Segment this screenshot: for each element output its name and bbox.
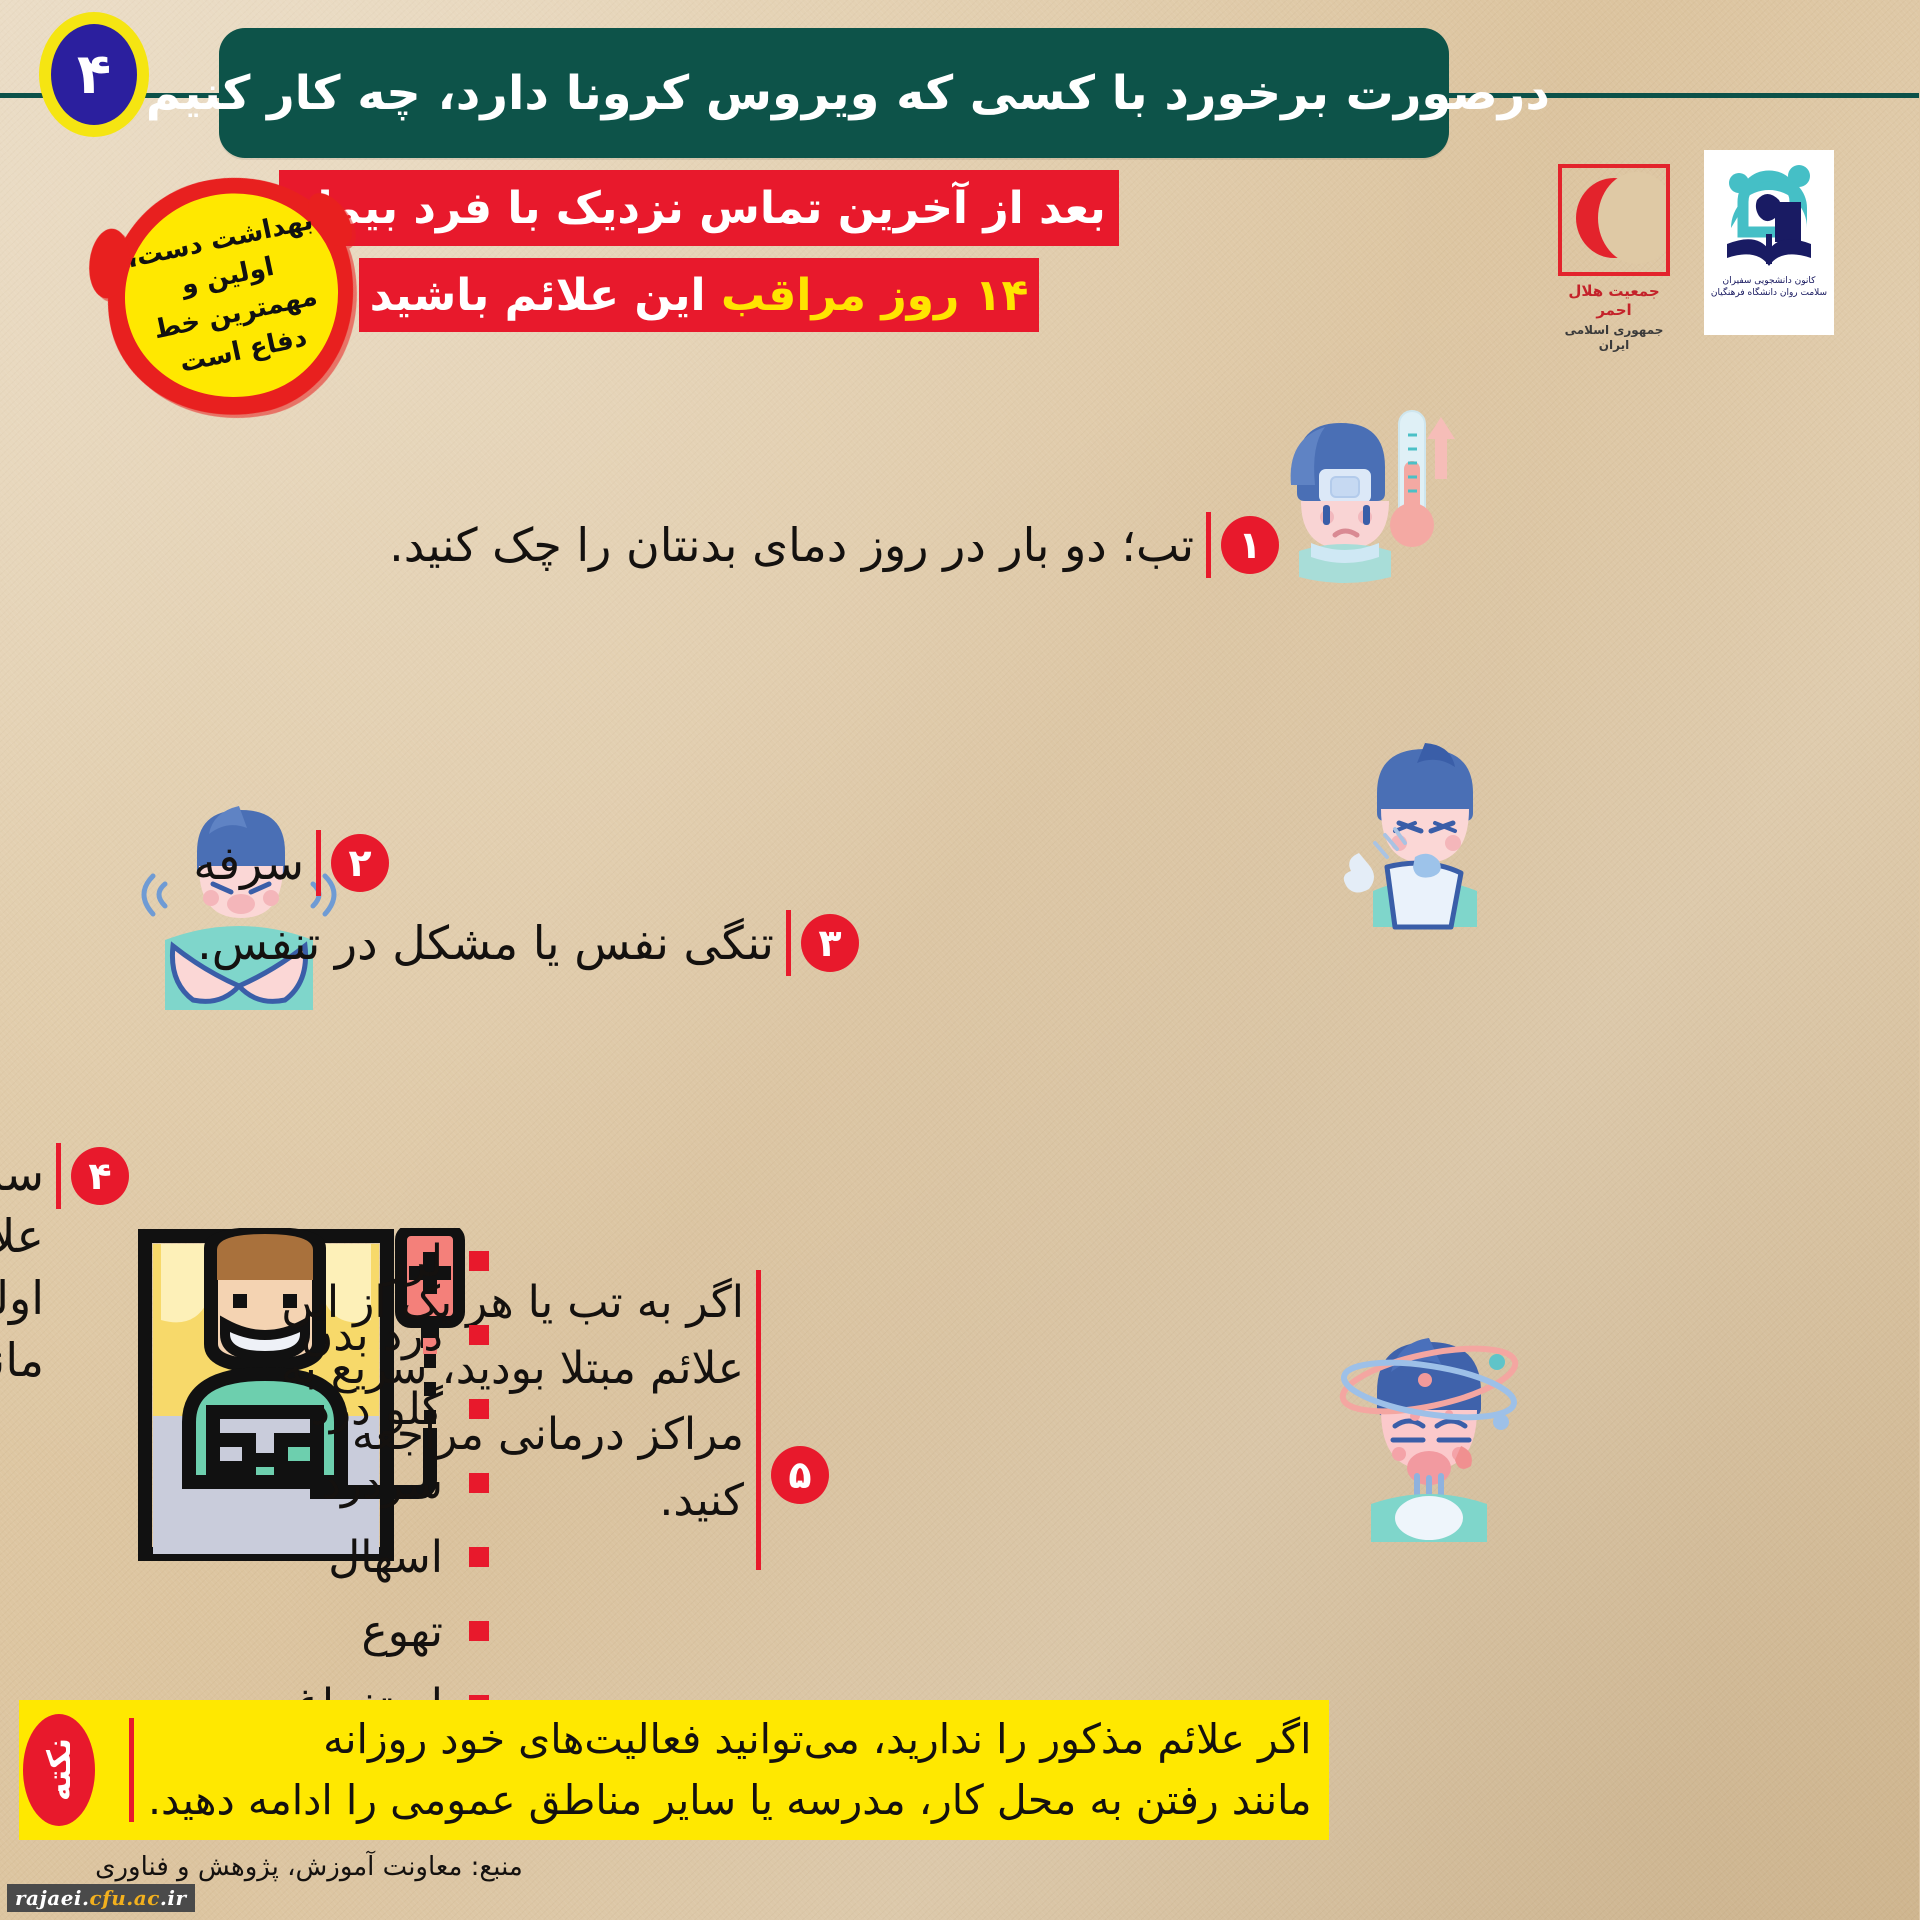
infographic-canvas: درصورت برخورد با کسی که ویروس کرونا دارد… xyxy=(0,0,1920,1920)
watch-days-rest: این علائم باشید xyxy=(371,270,722,321)
note-line-1: اگر علائم مذکور را ندارید، می‌توانید فعا… xyxy=(149,1709,1313,1771)
dizzy-person-icon xyxy=(1330,1318,1530,1543)
list-item: سردرد xyxy=(60,1454,490,1512)
list-item: تهوع xyxy=(60,1602,490,1660)
bullet-square-icon xyxy=(470,1547,490,1567)
source-footer: منبع: معاونت آموزش، پژوهش و فناوری xyxy=(0,1852,620,1882)
row-4-text: سایر علائم اولیه مانند: xyxy=(0,1143,45,1391)
note-divider xyxy=(130,1718,135,1822)
organization-logos: جمعیت هلال احمر جمهوری اسلامی ایران کانو… xyxy=(1465,150,1865,350)
row-2-divider xyxy=(317,830,322,896)
red-banner-watch-days: ۱۴ روز مراقب این علائم باشید xyxy=(360,258,1040,332)
red-crescent-logo: جمعیت هلال احمر جمهوری اسلامی ایران xyxy=(1555,164,1675,353)
row-5-divider xyxy=(757,1270,762,1570)
row-3-number: ۳ xyxy=(802,914,860,972)
row-4-number-group: ۴ xyxy=(45,1143,130,1209)
row-1-text: تب؛ دو بار در روز دمای بدنتان را چک کنید… xyxy=(390,514,1195,576)
red-crescent-subcaption: جمهوری اسلامی ایران xyxy=(1555,323,1675,353)
row-3-number-group: ۳ xyxy=(775,910,860,976)
red-banner-last-contact: بعد از آخرین تماس نزدیک با فرد بیمار xyxy=(280,170,1120,246)
university-logo-caption: کانون دانشجویی سفیران سلامت روان دانشگاه… xyxy=(1705,276,1835,299)
symptom-label: گلو درد xyxy=(311,1384,444,1435)
row-1-number: ۱ xyxy=(1222,516,1280,574)
red-banner-line-1: بعد از آخرین تماس نزدیک با فرد بیمار xyxy=(293,183,1107,234)
symptom-label: درد بدن xyxy=(302,1310,444,1361)
symptom-row-1: ۱ تب؛ دو بار در روز دمای بدنتان را چک کن… xyxy=(390,512,1280,578)
symptom-label: اسهال xyxy=(329,1532,444,1583)
red-crescent-icon xyxy=(1559,164,1671,276)
symptom-label: سردرد xyxy=(322,1458,444,1509)
step-number-value: ۴ xyxy=(78,47,112,103)
bullet-square-icon xyxy=(470,1251,490,1271)
list-item: اسهال xyxy=(60,1528,490,1586)
note-callout: نکته اگر علائم مذکور را ندارید، می‌توانی… xyxy=(20,1700,1330,1840)
symptom-label: تهوع xyxy=(362,1606,444,1657)
watermark-part-2: cfu.ac xyxy=(90,1886,160,1910)
symptom-row-3: ۳ تنگی نفس یا مشکل در تنفس. xyxy=(198,910,860,976)
site-watermark: rajaei.cfu.ac.ir xyxy=(8,1884,196,1912)
symptom-row-2: ۲ سرفه xyxy=(194,830,390,896)
row-4-divider xyxy=(57,1143,62,1209)
row-2-number: ۲ xyxy=(332,834,390,892)
bullet-square-icon xyxy=(470,1473,490,1493)
row-1-number-group: ۱ xyxy=(1195,512,1280,578)
row-3-text: تنگی نفس یا مشکل در تنفس. xyxy=(198,912,775,974)
university-emblem-icon xyxy=(1714,156,1826,274)
symptom-label: لرز xyxy=(385,1236,444,1287)
watch-days-highlight: ۱۴ روز مراقب xyxy=(722,270,1029,321)
list-item: لرز xyxy=(60,1232,490,1290)
list-item: گلو درد xyxy=(60,1380,490,1438)
row-3-divider xyxy=(787,910,792,976)
university-health-logo: کانون دانشجویی سفیران سلامت روان دانشگاه… xyxy=(1705,150,1835,335)
row-4-number: ۴ xyxy=(72,1147,130,1205)
page-title-banner: درصورت برخورد با کسی که ویروس کرونا دارد… xyxy=(220,28,1450,158)
page-title: درصورت برخورد با کسی که ویروس کرونا دارد… xyxy=(119,66,1551,121)
stamp-disc: بهداشت دست، اولین و مهمترین خط دفاع است xyxy=(107,174,359,418)
watermark-part-3: .ir xyxy=(161,1886,188,1910)
step-number-badge: ۴ xyxy=(40,12,150,137)
note-text: اگر علائم مذکور را ندارید، می‌توانید فعا… xyxy=(135,1709,1313,1832)
note-line-2: مانند رفتن به محل کار، مدرسه یا سایر منا… xyxy=(149,1770,1313,1832)
hand-hygiene-stamp: بهداشت دست، اولین و مهمترین خط دفاع است xyxy=(86,155,378,439)
bullet-square-icon xyxy=(470,1621,490,1641)
row-5-number: ۵ xyxy=(772,1446,830,1504)
row-5-number-group: ۵ xyxy=(745,1380,830,1570)
row-1-divider xyxy=(1207,512,1212,578)
red-crescent-caption: جمعیت هلال احمر xyxy=(1569,282,1660,319)
list-item: درد بدن xyxy=(60,1306,490,1364)
coughing-person-icon xyxy=(1330,735,1520,935)
note-badge: نکته xyxy=(24,1714,96,1826)
bullet-square-icon xyxy=(470,1399,490,1419)
row-2-number-group: ۲ xyxy=(305,830,390,896)
note-badge-label: نکته xyxy=(41,1738,79,1801)
bullet-square-icon xyxy=(470,1325,490,1345)
row-2-text: سرفه xyxy=(194,832,305,894)
watermark-part-1: rajaei. xyxy=(16,1886,90,1910)
